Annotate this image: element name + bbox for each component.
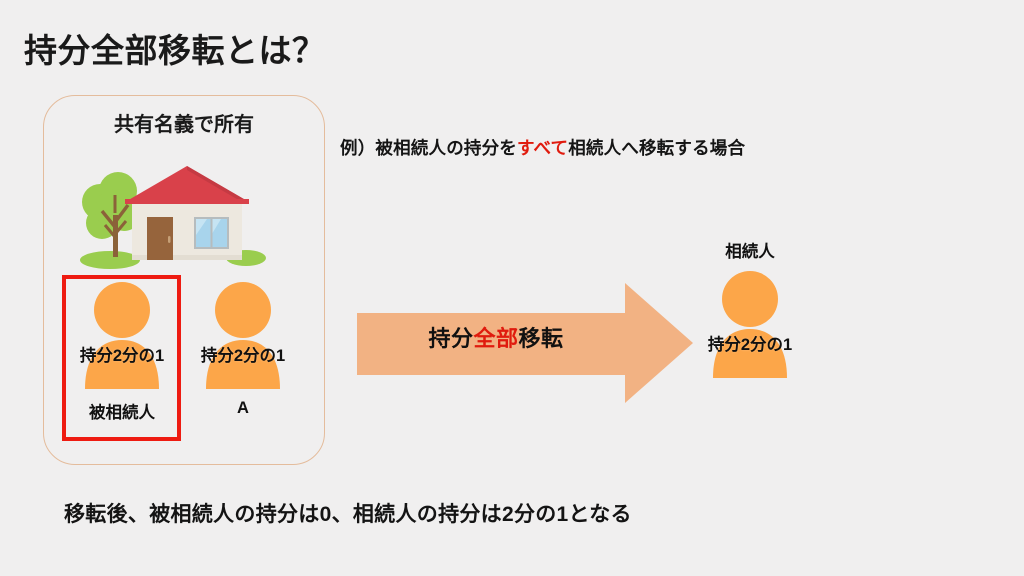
person-co-owner-a-share: 持分2分の1 <box>201 342 285 366</box>
shrub-left-shape <box>80 251 140 269</box>
example-emphasis: すべて <box>517 138 568 158</box>
person-heir-share: 持分2分の1 <box>708 331 792 355</box>
house-roof-shape <box>125 166 249 202</box>
example-prefix: 例）被相続人の持分を <box>340 138 517 158</box>
example-sentence: 例）被相続人の持分をすべて相続人へ移転する場合 <box>340 135 745 160</box>
house-illustration <box>74 155 274 270</box>
page-title: 持分全部移転とは？ <box>24 24 326 72</box>
person-icon <box>200 281 286 389</box>
ownership-panel-heading: 共有名義で所有 <box>43 108 325 137</box>
person-decedent-name: 被相続人 <box>89 399 155 423</box>
person-decedent-share: 持分2分の1 <box>80 342 164 366</box>
person-heir: 相続人 持分2分の1 <box>707 270 793 378</box>
person-icon <box>79 281 165 389</box>
person-decedent: 持分2分の1 被相続人 <box>79 281 165 389</box>
arrow-label-suffix: 移転 <box>519 326 564 351</box>
person-heir-name: 相続人 <box>725 238 775 262</box>
slide-canvas: 持分全部移転とは？ 共有名義で所有 <box>0 0 1024 576</box>
transfer-arrow-label: 持分全部移転 <box>355 321 637 353</box>
arrow-label-prefix: 持分 <box>428 326 473 351</box>
example-suffix: 相続人へ移転する場合 <box>568 138 745 158</box>
person-icon <box>707 270 793 378</box>
footer-note: 移転後、被相続人の持分は0、相続人の持分は2分の1となる <box>64 498 632 528</box>
person-co-owner-a: 持分2分の1 A <box>200 281 286 389</box>
arrow-label-emphasis: 全部 <box>473 326 518 351</box>
person-co-owner-a-name: A <box>237 399 249 418</box>
